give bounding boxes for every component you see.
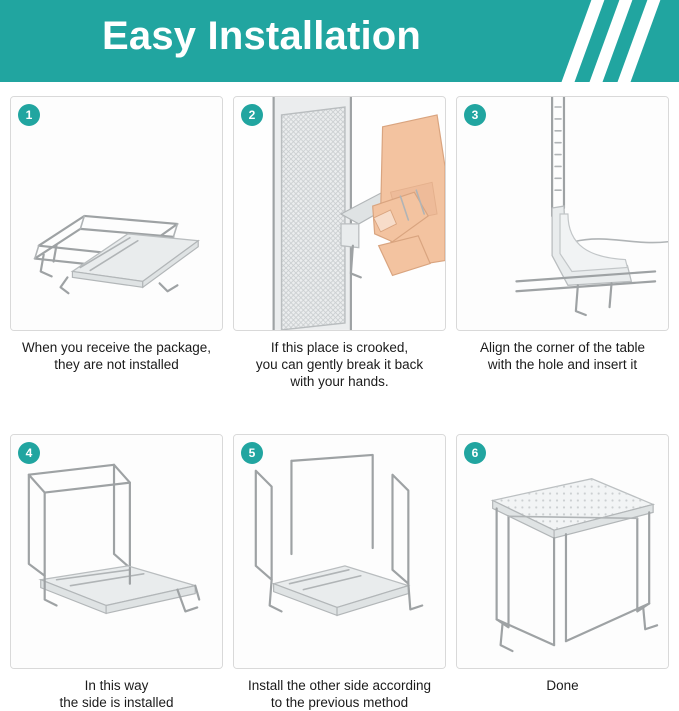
step-4-photo: 4 xyxy=(10,434,223,669)
step-1: 1 xyxy=(10,96,223,390)
step-2-photo: 2 xyxy=(233,96,446,331)
step-6-badge: 6 xyxy=(464,442,486,464)
page-title: Easy Installation xyxy=(102,14,421,59)
step-4-caption: In this way the side is installed xyxy=(10,677,223,711)
step-2-caption: If this place is crooked, you can gently… xyxy=(233,339,446,390)
step-5-photo: 5 xyxy=(233,434,446,669)
step-6-caption: Done xyxy=(456,677,669,694)
step-2-badge: 2 xyxy=(241,104,263,126)
one-side-installed-illustration xyxy=(11,435,222,668)
step-5: 5 xyxy=(233,434,446,711)
header-stripes-decoration xyxy=(515,0,665,82)
step-1-caption: When you receive the package, they are n… xyxy=(10,339,223,373)
step-1-photo: 1 xyxy=(10,96,223,331)
step-4-badge: 4 xyxy=(18,442,40,464)
other-side-installed-illustration xyxy=(234,435,445,668)
step-6-photo: 6 xyxy=(456,434,669,669)
step-1-badge: 1 xyxy=(18,104,40,126)
step-3: 3 xyxy=(456,96,669,390)
step-4: 4 xyxy=(10,434,223,711)
steps-row-2: 4 xyxy=(10,434,669,711)
step-2: 2 xyxy=(233,96,446,390)
steps-row-1: 1 xyxy=(10,96,669,390)
step-5-badge: 5 xyxy=(241,442,263,464)
step-3-badge: 3 xyxy=(464,104,486,126)
flat-pack-shelf-parts-illustration xyxy=(11,97,222,330)
step-3-photo: 3 xyxy=(456,96,669,331)
step-5-caption: Install the other side according to the … xyxy=(233,677,446,711)
hand-bending-bracket-illustration xyxy=(234,97,445,330)
step-3-caption: Align the corner of the table with the h… xyxy=(456,339,669,373)
align-corner-insert-illustration xyxy=(457,97,668,330)
step-6: 6 xyxy=(456,434,669,711)
header-banner: Easy Installation xyxy=(0,0,679,82)
finished-shelf-illustration xyxy=(457,435,668,668)
steps-grid: 1 xyxy=(10,96,669,711)
